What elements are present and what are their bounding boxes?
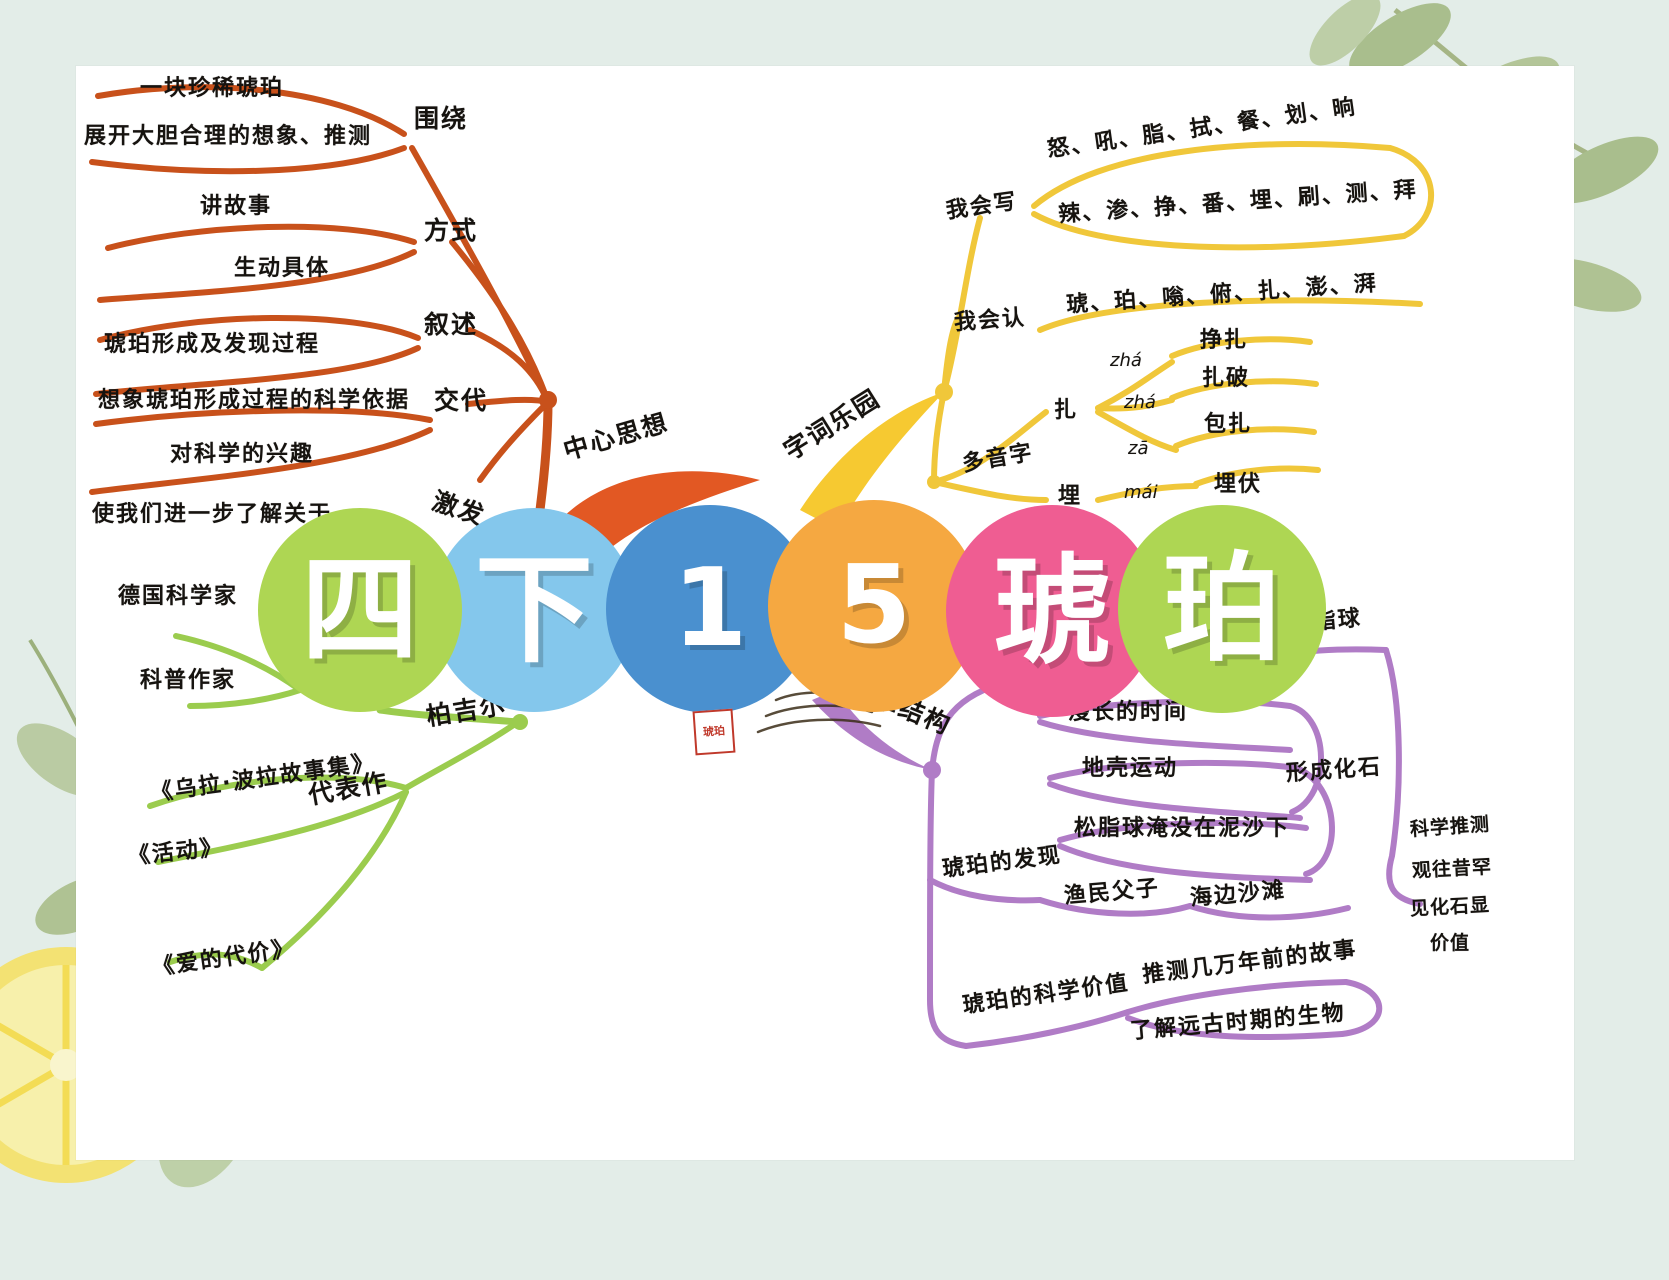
purple-item-3: 松脂球淹没在泥沙下 [1074, 818, 1290, 840]
poly-pinyin-1: zhá [1110, 352, 1142, 370]
purple-sci-line-3: 见化石显 [1410, 896, 1491, 919]
bubble-text: 1 [672, 555, 747, 663]
red-item-8: 使我们进一步了解关于 [92, 504, 332, 526]
red-item-1: 一块珍稀琥珀 [140, 78, 284, 100]
center-bubble-1: 四 [258, 508, 462, 712]
red-item-3: 讲故事 [200, 196, 272, 218]
red-item-6: 想象琥珀形成过程的科学依据 [98, 390, 410, 412]
red-label-3: 叙述 [424, 312, 478, 337]
red-item-4: 生动具体 [234, 258, 330, 280]
red-item-5: 琥珀形成及发现过程 [104, 334, 320, 356]
poly-word-1: 挣扎 [1200, 330, 1248, 352]
poly-char-zha: 扎 [1054, 400, 1078, 422]
red-label-2: 方式 [424, 218, 478, 243]
red-item-7: 对科学的兴趣 [170, 444, 314, 466]
poly-pinyin-3: zā [1128, 440, 1148, 458]
purple-sci-line-2: 观往昔罕 [1412, 858, 1493, 881]
seal-stamp: 琥珀 [693, 709, 736, 756]
bubble-text: 珀 [1163, 550, 1281, 668]
mindmap-canvas: 四 下 1 5 琥 珀 琥珀 一块珍稀琥珀 展开大胆合理的想象、推测 围绕 讲故… [0, 0, 1669, 1280]
bubble-text: 琥 [993, 552, 1111, 670]
poly-pinyin-2: zhá [1124, 394, 1156, 412]
red-label-4: 交代 [434, 388, 488, 413]
bubble-text: 5 [836, 552, 911, 660]
bubble-text: 下 [475, 551, 593, 669]
bubble-text: 四 [301, 551, 419, 669]
poly-word-2: 扎破 [1202, 368, 1250, 390]
center-bubble-6: 珀 [1118, 505, 1326, 713]
red-label-1: 围绕 [414, 106, 468, 131]
green-item-2: 科普作家 [140, 670, 236, 692]
green-item-1: 德国科学家 [118, 586, 238, 608]
purple-item-2: 地壳运动 [1082, 758, 1178, 780]
poly-word-4: 埋伏 [1214, 474, 1262, 496]
poly-word-3: 包扎 [1204, 414, 1252, 436]
purple-sci-line-4: 价值 [1430, 934, 1470, 953]
yellow-read-label: 我会认 [953, 308, 1026, 335]
red-item-2: 展开大胆合理的想象、推测 [84, 126, 372, 148]
poly-pinyin-4: mái [1124, 484, 1158, 502]
